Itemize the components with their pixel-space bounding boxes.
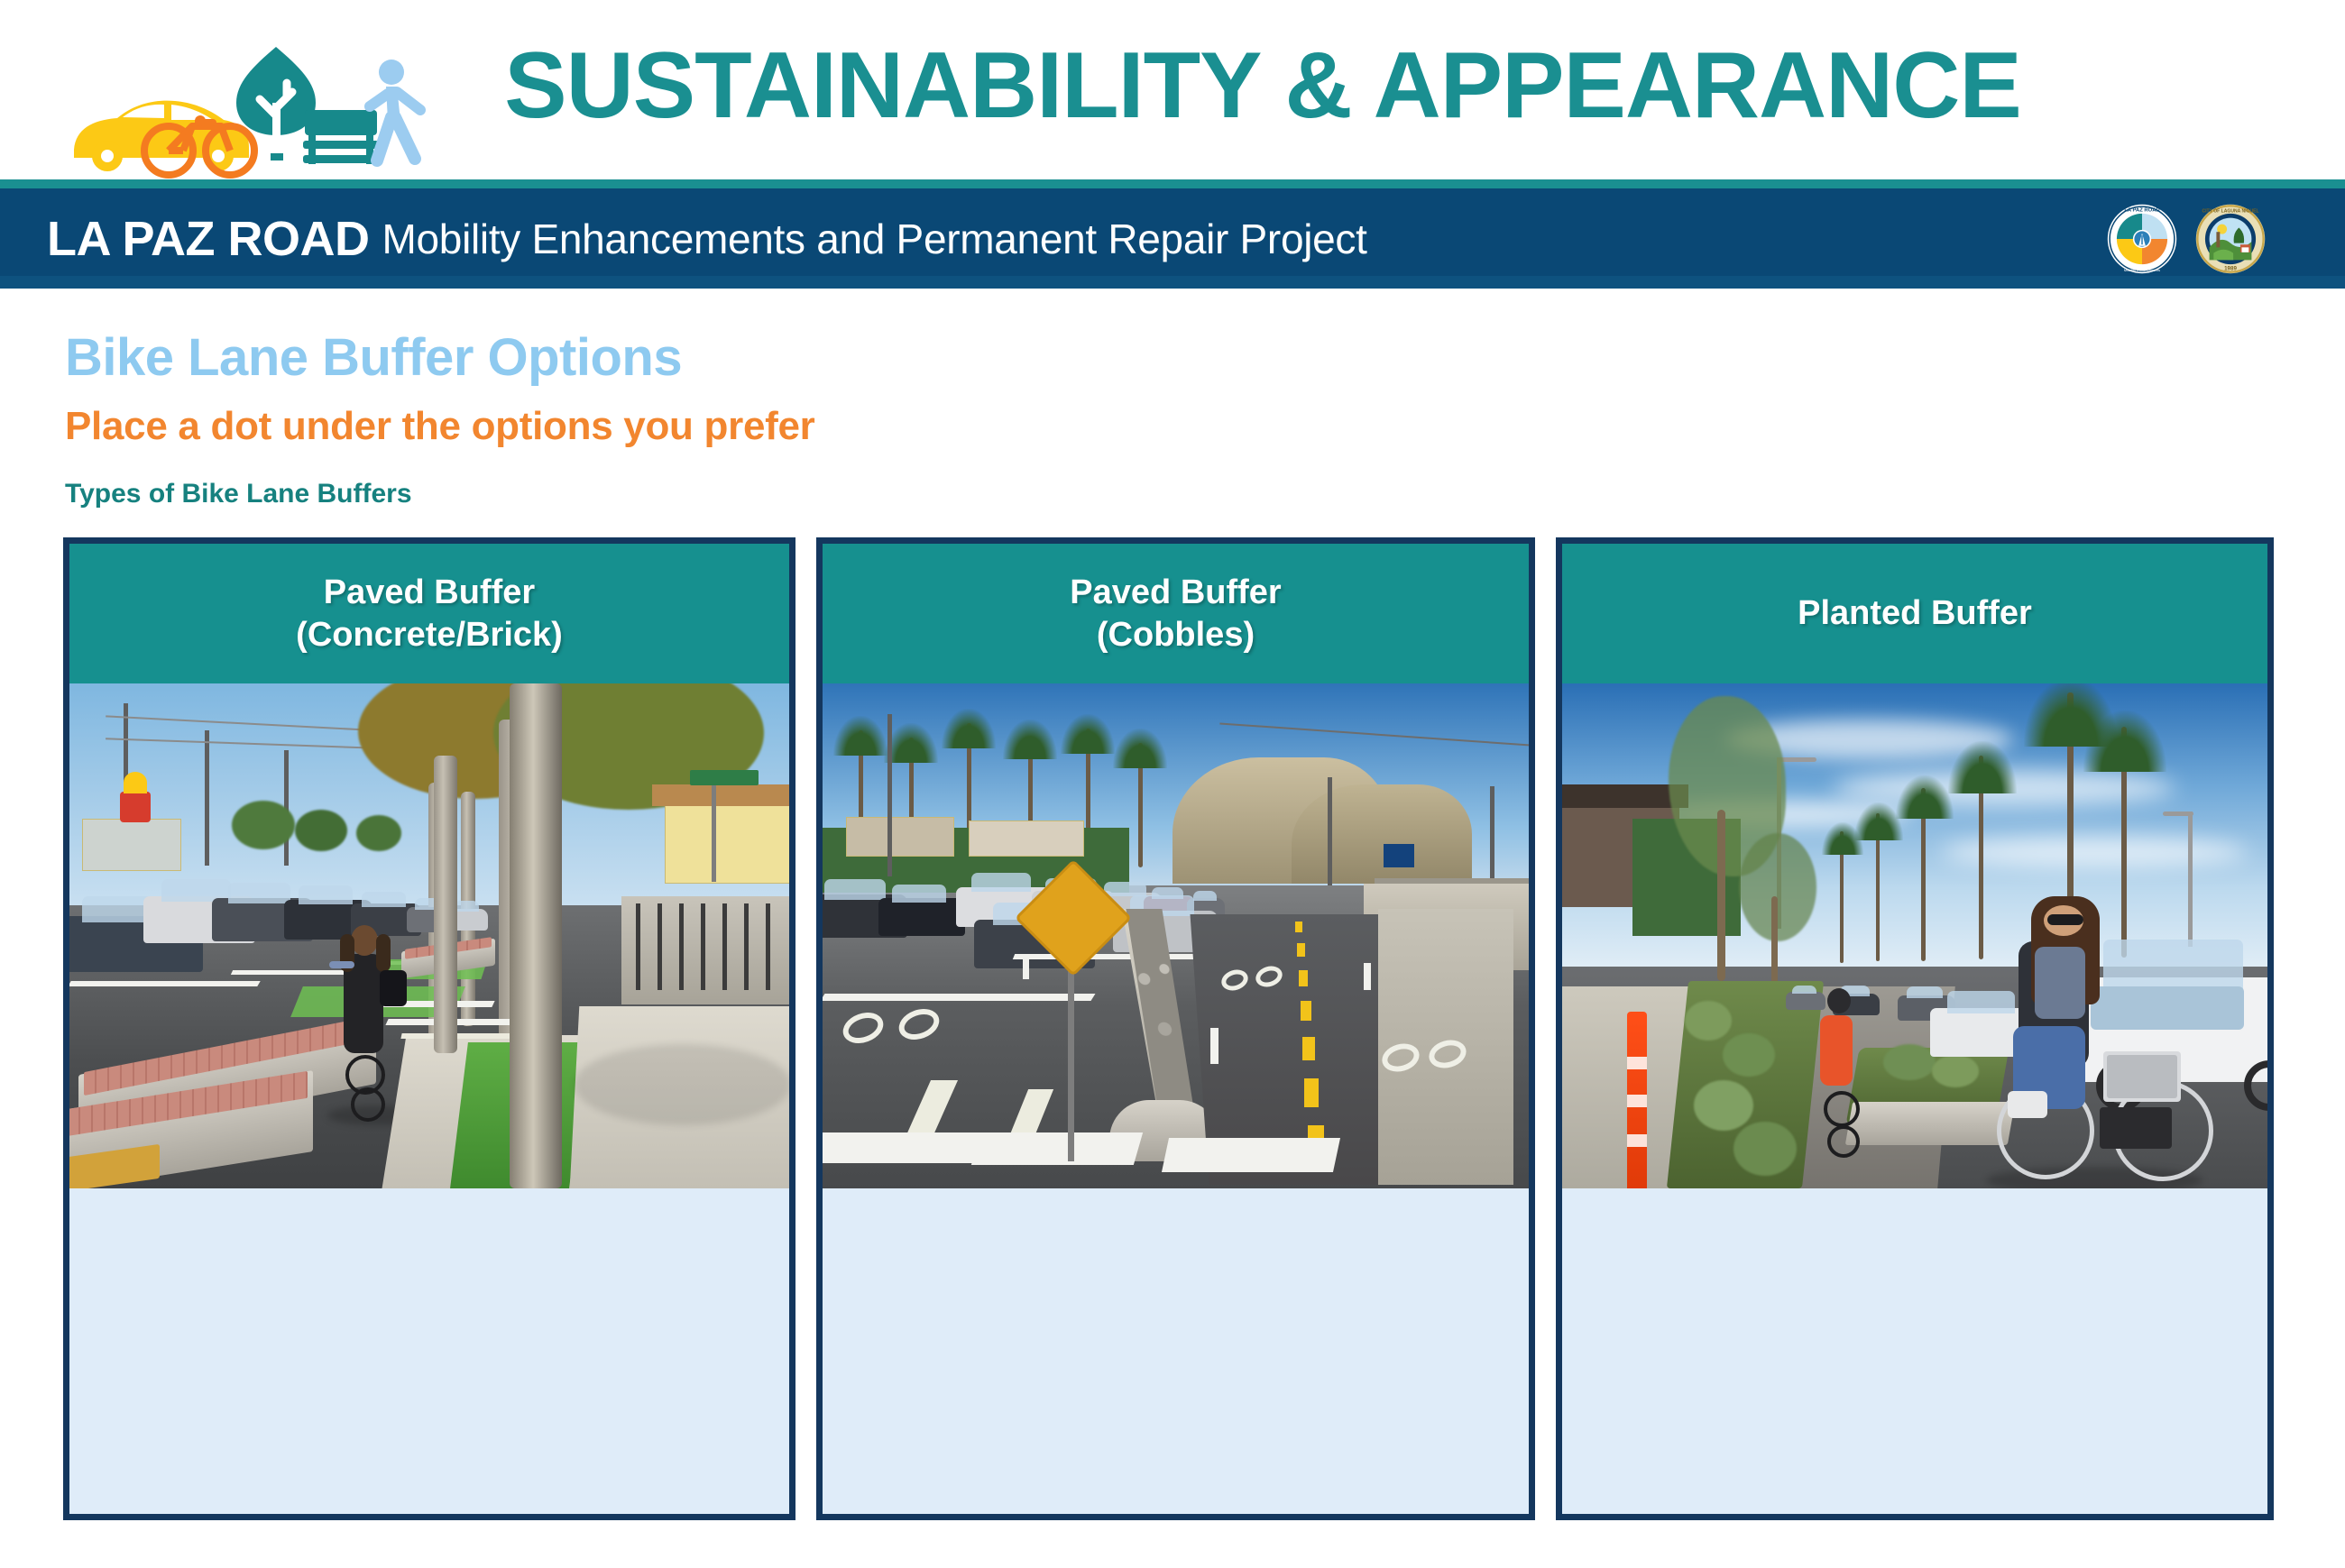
option-card-planted-buffer[interactable]: Planted Buffer bbox=[1556, 537, 2274, 1520]
dot-voting-area-concrete-brick[interactable] bbox=[69, 1188, 789, 1514]
teal-divider-rule bbox=[0, 179, 2345, 188]
brand-subtitle: Mobility Enhancements and Permanent Repa… bbox=[382, 215, 1366, 263]
brand-name: LA PAZ ROAD bbox=[47, 211, 369, 267]
dot-voting-area-planted[interactable] bbox=[1562, 1188, 2267, 1514]
option-title-line2: (Cobbles) bbox=[1097, 616, 1255, 654]
svg-text:CITY OF LAGUNA NIGUEL: CITY OF LAGUNA NIGUEL bbox=[2202, 208, 2258, 214]
option-card-header: Paved Buffer (Cobbles) bbox=[823, 544, 1529, 683]
option-card-header: Planted Buffer bbox=[1562, 544, 2267, 683]
page-title: SUSTAINABILITY & APPEARANCE bbox=[0, 32, 2345, 141]
poster-header: SUSTAINABILITY & APPEARANCE bbox=[0, 0, 2345, 180]
svg-text:LA PAZ ROAD: LA PAZ ROAD bbox=[2124, 207, 2159, 213]
option-title-line1: Paved Buffer bbox=[324, 573, 535, 611]
brand-lockup: LA PAZ ROAD Mobility Enhancements and Pe… bbox=[47, 188, 1367, 289]
option-title-line1: Planted Buffer bbox=[1798, 592, 2032, 634]
dot-voting-area-cobbles[interactable] bbox=[823, 1188, 1529, 1514]
section-instruction: Place a dot under the options you prefer bbox=[65, 404, 814, 449]
option-card-paved-buffer-cobbles[interactable]: Paved Buffer (Cobbles) bbox=[816, 537, 1535, 1520]
section-heading: Bike Lane Buffer Options bbox=[65, 327, 682, 388]
city-of-laguna-niguel-seal-icon: CITY OF LAGUNA NIGUEL 1989 bbox=[2195, 204, 2266, 274]
section-kicker: Types of Bike Lane Buffers bbox=[65, 479, 412, 509]
option-title-line1: Paved Buffer bbox=[1070, 573, 1281, 611]
option-card-paved-buffer-concrete-brick[interactable]: Paved Buffer (Concrete/Brick) bbox=[63, 537, 795, 1520]
svg-text:Mobility Enhancements: Mobility Enhancements bbox=[2124, 267, 2160, 271]
option-photo-cobble-buffer bbox=[823, 683, 1529, 1188]
option-title-line2: (Concrete/Brick) bbox=[296, 616, 563, 654]
la-paz-road-project-seal-icon: LA PAZ ROAD Mobility Enhancements bbox=[2107, 204, 2177, 274]
option-photo-planted-buffer bbox=[1562, 683, 2267, 1188]
option-photo-concrete-brick-buffer bbox=[69, 683, 789, 1188]
svg-text:1989: 1989 bbox=[2224, 265, 2237, 271]
option-card-header: Paved Buffer (Concrete/Brick) bbox=[69, 544, 789, 683]
brand-band: LA PAZ ROAD Mobility Enhancements and Pe… bbox=[0, 188, 2345, 289]
buffer-options-grid: Paved Buffer (Concrete/Brick) bbox=[0, 537, 2345, 1529]
agency-seals: LA PAZ ROAD Mobility Enhancements CITY O… bbox=[2107, 188, 2266, 289]
